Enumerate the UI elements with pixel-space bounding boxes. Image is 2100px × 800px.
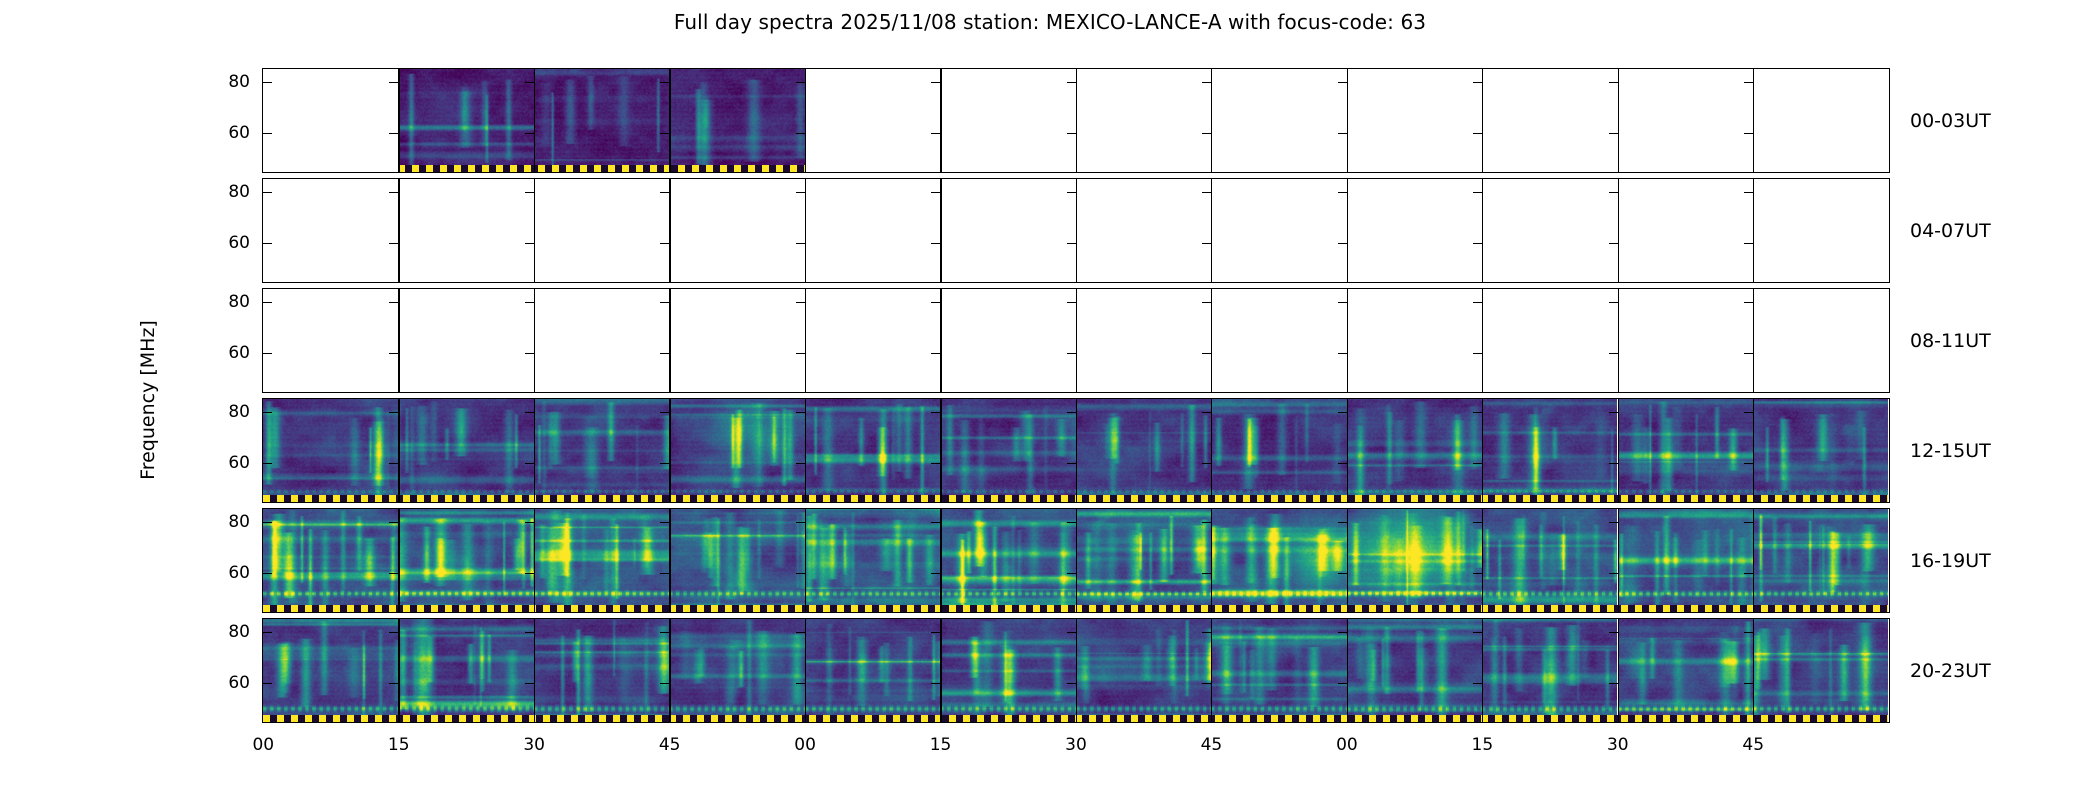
spectrogram-image [940,509,1075,611]
y-tick-mark [263,82,272,83]
panel-separator [1347,399,1348,502]
panel-separator [1076,619,1077,722]
panel-separator [398,399,399,502]
spectrogram-image [398,69,533,171]
spectrogram-row-08-11ut[interactable] [262,288,1890,393]
spectrogram-image [1076,509,1211,611]
y-tick-mark [1473,353,1482,354]
panel-separator [1753,399,1754,502]
y-tick-mark [931,302,940,303]
panel-separator [669,509,670,612]
spectrogram-panel [263,509,398,611]
panel-separator [1482,399,1483,502]
y-tick-mark [525,82,534,83]
y-tick-mark [1338,573,1347,574]
spectrogram-panel [534,619,669,721]
y-tick-label: 60 [228,123,250,143]
y-tick-mark [389,573,398,574]
y-tick-mark [1067,632,1076,633]
y-tick-mark [1609,522,1618,523]
panel-separator [805,179,806,282]
spectrogram-panel [1482,399,1617,501]
spectrogram-panel [669,69,804,171]
panel-separator [1076,179,1077,282]
y-tick-mark [1609,353,1618,354]
panel-separator [398,289,399,392]
y-tick-mark [1473,302,1482,303]
y-tick-label: 80 [228,292,250,312]
y-tick-mark [796,243,805,244]
panel-separator [1618,179,1619,282]
y-tick-mark [660,133,669,134]
panel-separator [1482,619,1483,722]
y-tick-mark [796,632,805,633]
y-tick-mark [1202,522,1211,523]
spectrogram-image [534,69,669,171]
panel-separator [398,619,399,722]
y-tick-mark [1744,463,1753,464]
spectrogram-panel [1753,619,1888,721]
y-tick-mark [1338,302,1347,303]
panel-separator [940,289,941,392]
panel-separator [398,509,399,612]
y-tick-mark [1067,573,1076,574]
y-tick-mark [660,82,669,83]
y-tick-mark [660,522,669,523]
panel-separator [1753,509,1754,612]
y-tick-mark [1744,243,1753,244]
panel-separator [1347,509,1348,612]
y-tick-mark [1067,412,1076,413]
y-tick-mark [931,463,940,464]
y-tick-mark [263,133,272,134]
spectrogram-image [1482,509,1617,611]
y-tick-mark [1609,192,1618,193]
spectrogram-panel [1211,509,1346,611]
y-tick-mark [1202,133,1211,134]
y-tick-mark [263,463,272,464]
y-tick-mark [1744,683,1753,684]
panel-separator [1076,509,1077,612]
panel-separator [1618,619,1619,722]
y-tick-mark [263,243,272,244]
panel-separator [805,289,806,392]
spectrogram-image [1482,399,1617,501]
y-tick-mark [660,302,669,303]
y-axis-label: Frequency [MHz] [137,320,159,480]
y-tick-mark [525,353,534,354]
y-tick-mark [525,243,534,244]
spectrogram-image [398,509,533,611]
x-tick-label: 15 [930,735,952,755]
y-tick-mark [263,573,272,574]
panel-separator [1211,399,1212,502]
y-tick-mark [525,632,534,633]
panel-separator [805,509,806,612]
y-tick-mark [389,302,398,303]
y-tick-mark [1202,683,1211,684]
spectrogram-image [534,399,669,501]
spectrogram-panel [1482,509,1617,611]
spectrogram-image [1753,399,1888,501]
y-tick-mark [1202,192,1211,193]
y-tick-mark [1067,82,1076,83]
y-tick-mark [1473,243,1482,244]
y-tick-mark [1609,463,1618,464]
x-tick-label: 00 [252,735,274,755]
spectrogram-panel [398,69,533,171]
y-tick-mark [1744,82,1753,83]
y-tick-mark [1609,133,1618,134]
spectrogram-image [940,399,1075,501]
panel-separator [1211,289,1212,392]
x-tick-label: 00 [1336,735,1358,755]
panel-separator [1618,509,1619,612]
y-tick-mark [931,243,940,244]
spectrogram-panel [805,509,940,611]
y-tick-mark [1202,412,1211,413]
spectrogram-row-04-07ut[interactable] [262,178,1890,283]
y-tick-mark [1338,133,1347,134]
y-tick-mark [1744,632,1753,633]
panel-separator [805,619,806,722]
panel-separator [1347,179,1348,282]
panel-separator [1753,619,1754,722]
y-tick-mark [525,683,534,684]
panel-separator [1211,179,1212,282]
spectrogram-panel [263,619,398,721]
panel-separator [1482,69,1483,172]
spectrogram-panel [1076,509,1211,611]
y-tick-mark [1473,133,1482,134]
row-label-12-15ut: 12-15UT [1910,440,1991,462]
y-tick-mark [389,463,398,464]
spectrogram-image [805,619,940,721]
y-tick-mark [796,463,805,464]
y-tick-mark [525,133,534,134]
y-tick-mark [1473,522,1482,523]
spectrogram-panel [1618,509,1753,611]
y-tick-mark [931,353,940,354]
y-tick-mark [1473,683,1482,684]
x-tick-label: 45 [659,735,681,755]
spectrogram-image [1347,619,1482,721]
spectrogram-image [1753,509,1888,611]
spectrogram-image [1211,399,1346,501]
y-tick-label: 60 [228,563,250,583]
panel-separator [1211,69,1212,172]
y-tick-mark [525,573,534,574]
spectrogram-panel [398,399,533,501]
y-tick-mark [796,192,805,193]
y-tick-label: 60 [228,673,250,693]
spectrogram-panel [1753,399,1888,501]
spectrogram-image [1211,619,1346,721]
spectrogram-image [1618,509,1753,611]
y-tick-mark [1744,412,1753,413]
spectrogram-panel [398,619,533,721]
y-tick-mark [796,82,805,83]
panel-separator [1347,69,1348,172]
spectrogram-panel [534,69,669,171]
y-tick-mark [660,192,669,193]
y-tick-mark [1473,82,1482,83]
y-tick-mark [660,353,669,354]
y-tick-label: 80 [228,402,250,422]
y-tick-label: 60 [228,343,250,363]
y-tick-mark [931,522,940,523]
y-tick-mark [1338,353,1347,354]
panel-separator [1211,619,1212,722]
y-tick-mark [525,463,534,464]
panel-separator [940,509,941,612]
y-tick-mark [1473,463,1482,464]
y-tick-mark [1609,632,1618,633]
spectrogram-panel [1618,399,1753,501]
x-tick-label: 15 [388,735,410,755]
y-tick-mark [660,243,669,244]
spectrogram-panel [1753,509,1888,611]
panel-separator [1076,399,1077,502]
x-tick-label: 45 [1201,735,1223,755]
spectrogram-image [1618,399,1753,501]
spectrogram-row-00-03ut[interactable] [262,68,1890,173]
row-label-20-23ut: 20-23UT [1910,660,1991,682]
y-tick-mark [796,412,805,413]
spectrogram-panel [940,399,1075,501]
y-tick-mark [525,302,534,303]
spectrogram-image [1076,619,1211,721]
y-tick-mark [1338,683,1347,684]
y-tick-mark [796,302,805,303]
y-tick-mark [525,192,534,193]
y-tick-mark [1338,412,1347,413]
y-tick-mark [796,133,805,134]
spectrogram-panel [1482,619,1617,721]
y-tick-mark [389,192,398,193]
spectrogram-panel [669,509,804,611]
y-tick-mark [796,573,805,574]
y-tick-mark [796,522,805,523]
panel-separator [669,619,670,722]
y-tick-mark [1338,463,1347,464]
y-tick-mark [1202,82,1211,83]
spectrogram-image [1347,509,1482,611]
y-tick-mark [1338,632,1347,633]
spectrogram-row-20-23ut[interactable] [262,618,1890,723]
y-tick-mark [1473,632,1482,633]
y-tick-mark [263,632,272,633]
spectrogram-panel [669,399,804,501]
spectrogram-image [263,509,398,611]
panel-separator [1211,509,1212,612]
spectrogram-image [669,619,804,721]
y-tick-mark [263,302,272,303]
spectrogram-image [805,399,940,501]
panel-separator [534,289,535,392]
panel-separator [534,509,535,612]
y-tick-mark [1744,302,1753,303]
panel-separator [805,69,806,172]
spectrogram-image [669,69,804,171]
y-tick-mark [389,82,398,83]
panel-separator [940,399,941,502]
spectrogram-image [1618,619,1753,721]
y-tick-mark [263,522,272,523]
spectrogram-panel [1211,399,1346,501]
y-tick-mark [1609,302,1618,303]
y-tick-mark [389,632,398,633]
panel-separator [1753,289,1754,392]
y-tick-mark [1338,192,1347,193]
y-tick-label: 80 [228,622,250,642]
y-tick-mark [263,353,272,354]
y-tick-mark [931,683,940,684]
y-tick-mark [1338,82,1347,83]
row-label-16-19ut: 16-19UT [1910,550,1991,572]
spectrogram-panel [805,399,940,501]
y-tick-mark [1609,412,1618,413]
spectrogram-panel [534,509,669,611]
spectrogram-panel [398,509,533,611]
panel-separator [1076,69,1077,172]
spectrogram-image [534,509,669,611]
y-tick-mark [1067,683,1076,684]
y-tick-mark [1744,522,1753,523]
panel-separator [534,69,535,172]
panel-separator [1618,69,1619,172]
spectrogram-panel [1618,619,1753,721]
y-tick-mark [660,412,669,413]
x-tick-label: 15 [1472,735,1494,755]
y-tick-mark [1202,573,1211,574]
panel-separator [669,289,670,392]
panel-separator [940,179,941,282]
y-tick-mark [1067,522,1076,523]
figure-canvas: Full day spectra 2025/11/08 station: MEX… [0,0,2100,800]
y-tick-mark [1202,632,1211,633]
panel-separator [1618,289,1619,392]
panel-separator [534,399,535,502]
panel-separator [1753,179,1754,282]
y-tick-label: 80 [228,182,250,202]
panel-separator [1347,619,1348,722]
y-tick-mark [1473,573,1482,574]
spectrogram-panel [1076,619,1211,721]
y-tick-mark [796,353,805,354]
y-tick-mark [1609,683,1618,684]
y-tick-mark [1067,353,1076,354]
panel-separator [1347,289,1348,392]
spectrogram-image [669,399,804,501]
y-tick-mark [1338,243,1347,244]
panel-separator [669,69,670,172]
panel-separator [1482,179,1483,282]
spectrogram-panel [805,619,940,721]
y-tick-mark [1067,463,1076,464]
y-tick-mark [1067,243,1076,244]
y-tick-mark [389,353,398,354]
spectrogram-image [1482,619,1617,721]
y-tick-label: 60 [228,233,250,253]
y-tick-mark [660,573,669,574]
y-tick-mark [931,82,940,83]
y-tick-mark [931,573,940,574]
spectrogram-image [398,399,533,501]
y-tick-mark [1744,353,1753,354]
y-tick-mark [1202,463,1211,464]
panel-separator [398,69,399,172]
panel-separator [805,399,806,502]
panel-separator [940,69,941,172]
panel-separator [669,399,670,502]
y-tick-mark [263,192,272,193]
y-tick-mark [1609,243,1618,244]
y-tick-mark [1473,192,1482,193]
y-tick-mark [1744,573,1753,574]
y-tick-mark [1067,133,1076,134]
spectrogram-image [263,399,398,501]
y-tick-mark [660,463,669,464]
x-tick-label: 30 [1065,735,1087,755]
y-tick-mark [931,192,940,193]
row-label-04-07ut: 04-07UT [1910,220,1991,242]
spectrogram-image [1347,399,1482,501]
y-tick-mark [1202,243,1211,244]
spectrogram-row-16-19ut[interactable] [262,508,1890,613]
spectrogram-panel [1347,619,1482,721]
panel-separator [940,619,941,722]
spectrogram-panel [940,619,1075,721]
y-tick-mark [263,683,272,684]
y-tick-mark [1744,133,1753,134]
y-tick-mark [660,683,669,684]
panel-separator [1753,69,1754,172]
panel-separator [669,179,670,282]
data-availability-marker [398,165,804,172]
y-tick-mark [931,133,940,134]
panel-separator [1482,289,1483,392]
y-tick-mark [1202,302,1211,303]
y-tick-mark [389,522,398,523]
x-tick-label: 45 [1742,735,1764,755]
y-tick-mark [1744,192,1753,193]
y-tick-mark [1202,353,1211,354]
y-tick-mark [1338,522,1347,523]
panel-separator [1076,289,1077,392]
x-axis: 001530450015304500153045 [262,731,1890,761]
y-tick-mark [1609,573,1618,574]
y-tick-mark [931,632,940,633]
y-tick-mark [931,412,940,413]
spectrogram-panel [534,399,669,501]
panel-separator [534,619,535,722]
y-tick-label: 60 [228,453,250,473]
row-label-08-11ut: 08-11UT [1910,330,1991,352]
y-tick-mark [389,412,398,413]
spectrogram-image [534,619,669,721]
panel-separator [1482,509,1483,612]
spectrogram-row-12-15ut[interactable] [262,398,1890,503]
spectrogram-image [1211,509,1346,611]
y-tick-mark [263,412,272,413]
panel-separator [534,179,535,282]
x-tick-label: 30 [1607,735,1629,755]
spectrogram-image [805,509,940,611]
y-tick-label: 80 [228,72,250,92]
spectrogram-panel [1347,399,1482,501]
y-tick-label: 80 [228,512,250,532]
